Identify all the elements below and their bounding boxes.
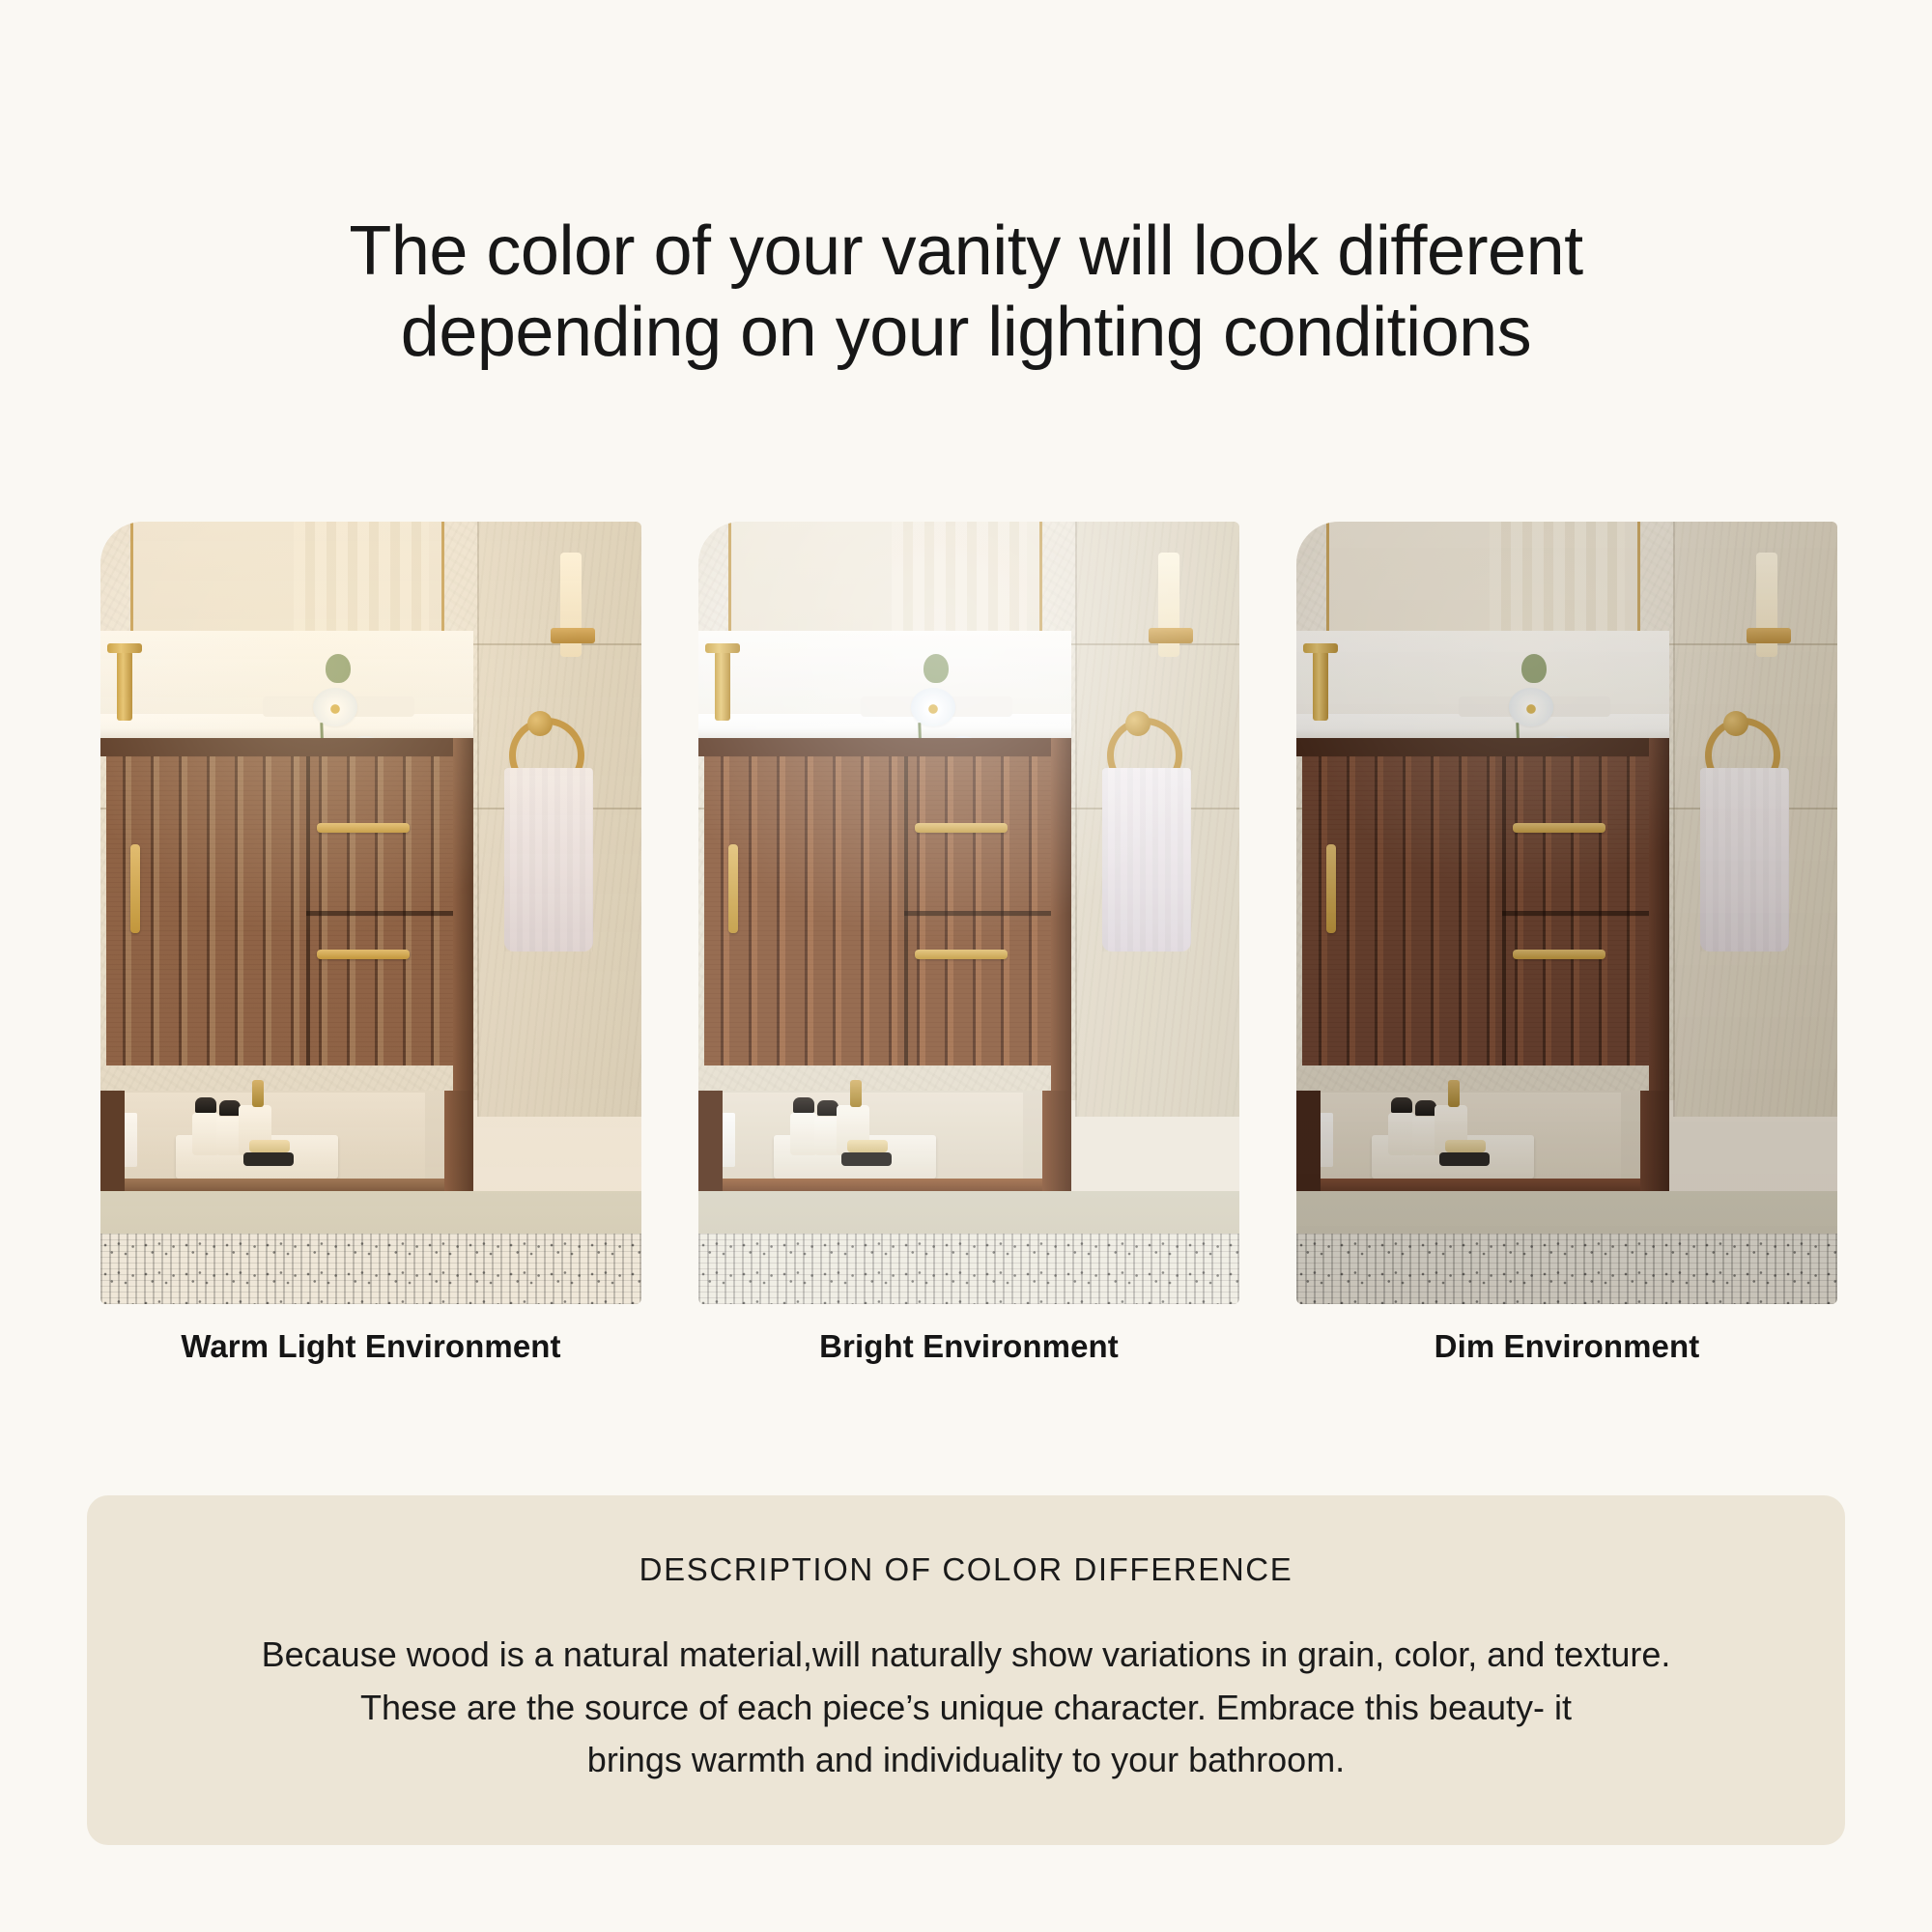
vanity-photo-warm-light[interactable] (100, 522, 641, 1304)
drawer-handle-bottom (317, 950, 410, 959)
jar-cap-1 (793, 1097, 814, 1113)
jar-cap-2 (219, 1100, 241, 1116)
area-rug (698, 1234, 1239, 1304)
vanity-cabinet (698, 738, 1071, 1091)
soap-bar (249, 1140, 290, 1152)
vanity-photo-bright[interactable] (698, 522, 1239, 1304)
cabinet-door-handle (1326, 844, 1336, 933)
jar-cap-1 (1391, 1097, 1412, 1113)
description-body-line-3: brings warmth and individuality to your … (174, 1734, 1758, 1787)
vanity-photo-dim[interactable] (1296, 522, 1837, 1304)
area-rug (100, 1234, 641, 1304)
hanging-towel (1102, 768, 1191, 952)
soap-dish (1439, 1152, 1490, 1166)
drawer-handle-top (1513, 823, 1605, 833)
towel-ring-post (1723, 711, 1748, 736)
bathroom-scene (698, 522, 1239, 1304)
hanging-towel (1700, 768, 1789, 952)
wall-sconce-base (1149, 628, 1193, 643)
description-title: DESCRIPTION OF COLOR DIFFERENCE (87, 1551, 1845, 1588)
soap-dispenser-pump (252, 1080, 264, 1107)
vanity-top-rail (1296, 738, 1669, 755)
wall-sconce-base (551, 628, 595, 643)
soap-bar (1445, 1140, 1486, 1152)
gold-faucet (117, 651, 132, 721)
drawer-seam (904, 911, 1059, 916)
comparison-panel-row (100, 522, 1839, 1304)
drawer-handle-bottom (1513, 950, 1605, 959)
vanity-side-post (1051, 738, 1071, 1091)
hanging-towel (504, 768, 593, 952)
wall-corner-line (1673, 522, 1675, 1117)
drawer-handle-top (317, 823, 410, 833)
panel-bright (698, 522, 1239, 1304)
vanity-side-post (453, 738, 473, 1091)
caption-warm-light: Warm Light Environment (100, 1328, 641, 1365)
vanity-top-rail (100, 738, 473, 755)
page-title-line-1: The color of your vanity will look diffe… (0, 211, 1932, 292)
wall-corner-line (1075, 522, 1077, 1117)
soap-dispenser-pump (1448, 1080, 1460, 1107)
jar-cap-1 (195, 1097, 216, 1113)
description-panel: DESCRIPTION OF COLOR DIFFERENCE Because … (87, 1495, 1845, 1845)
jar-1 (790, 1113, 817, 1155)
towel-ring-post (1125, 711, 1151, 736)
vanity-top-rail (698, 738, 1071, 755)
description-body: Because wood is a natural material,will … (87, 1629, 1845, 1787)
wall-corner-line (477, 522, 479, 1117)
description-body-line-1: Because wood is a natural material,will … (174, 1629, 1758, 1682)
soap-bar (847, 1140, 888, 1152)
area-rug (1296, 1234, 1837, 1304)
gold-faucet (1313, 651, 1328, 721)
description-body-line-2: These are the source of each piece’s uni… (174, 1682, 1758, 1735)
drawer-handle-bottom (915, 950, 1008, 959)
bathroom-scene (100, 522, 641, 1304)
caption-dim: Dim Environment (1296, 1328, 1837, 1365)
drawer-seam (1502, 911, 1657, 916)
caption-bright: Bright Environment (698, 1328, 1239, 1365)
jar-1 (1388, 1113, 1415, 1155)
jar-cap-2 (1415, 1100, 1436, 1116)
vanity-cabinet (1296, 738, 1669, 1091)
panel-warm-light (100, 522, 641, 1304)
vanity-cabinet (100, 738, 473, 1091)
panel-dim (1296, 522, 1837, 1304)
towel-ring-post (527, 711, 553, 736)
drawer-seam (306, 911, 461, 916)
jar-1 (192, 1113, 219, 1155)
cabinet-door-handle (728, 844, 738, 933)
page-title-line-2: depending on your lighting conditions (0, 292, 1932, 373)
jar-cap-2 (817, 1100, 838, 1116)
vanity-side-post (1649, 738, 1669, 1091)
soap-dish (841, 1152, 892, 1166)
page-title: The color of your vanity will look diffe… (0, 211, 1932, 373)
cabinet-door-handle (130, 844, 140, 933)
soap-dish (243, 1152, 294, 1166)
panel-captions: Warm Light Environment Bright Environmen… (100, 1328, 1839, 1365)
soap-dispenser-pump (850, 1080, 862, 1107)
drawer-handle-top (915, 823, 1008, 833)
gold-faucet (715, 651, 730, 721)
wall-sconce-base (1747, 628, 1791, 643)
bathroom-scene (1296, 522, 1837, 1304)
